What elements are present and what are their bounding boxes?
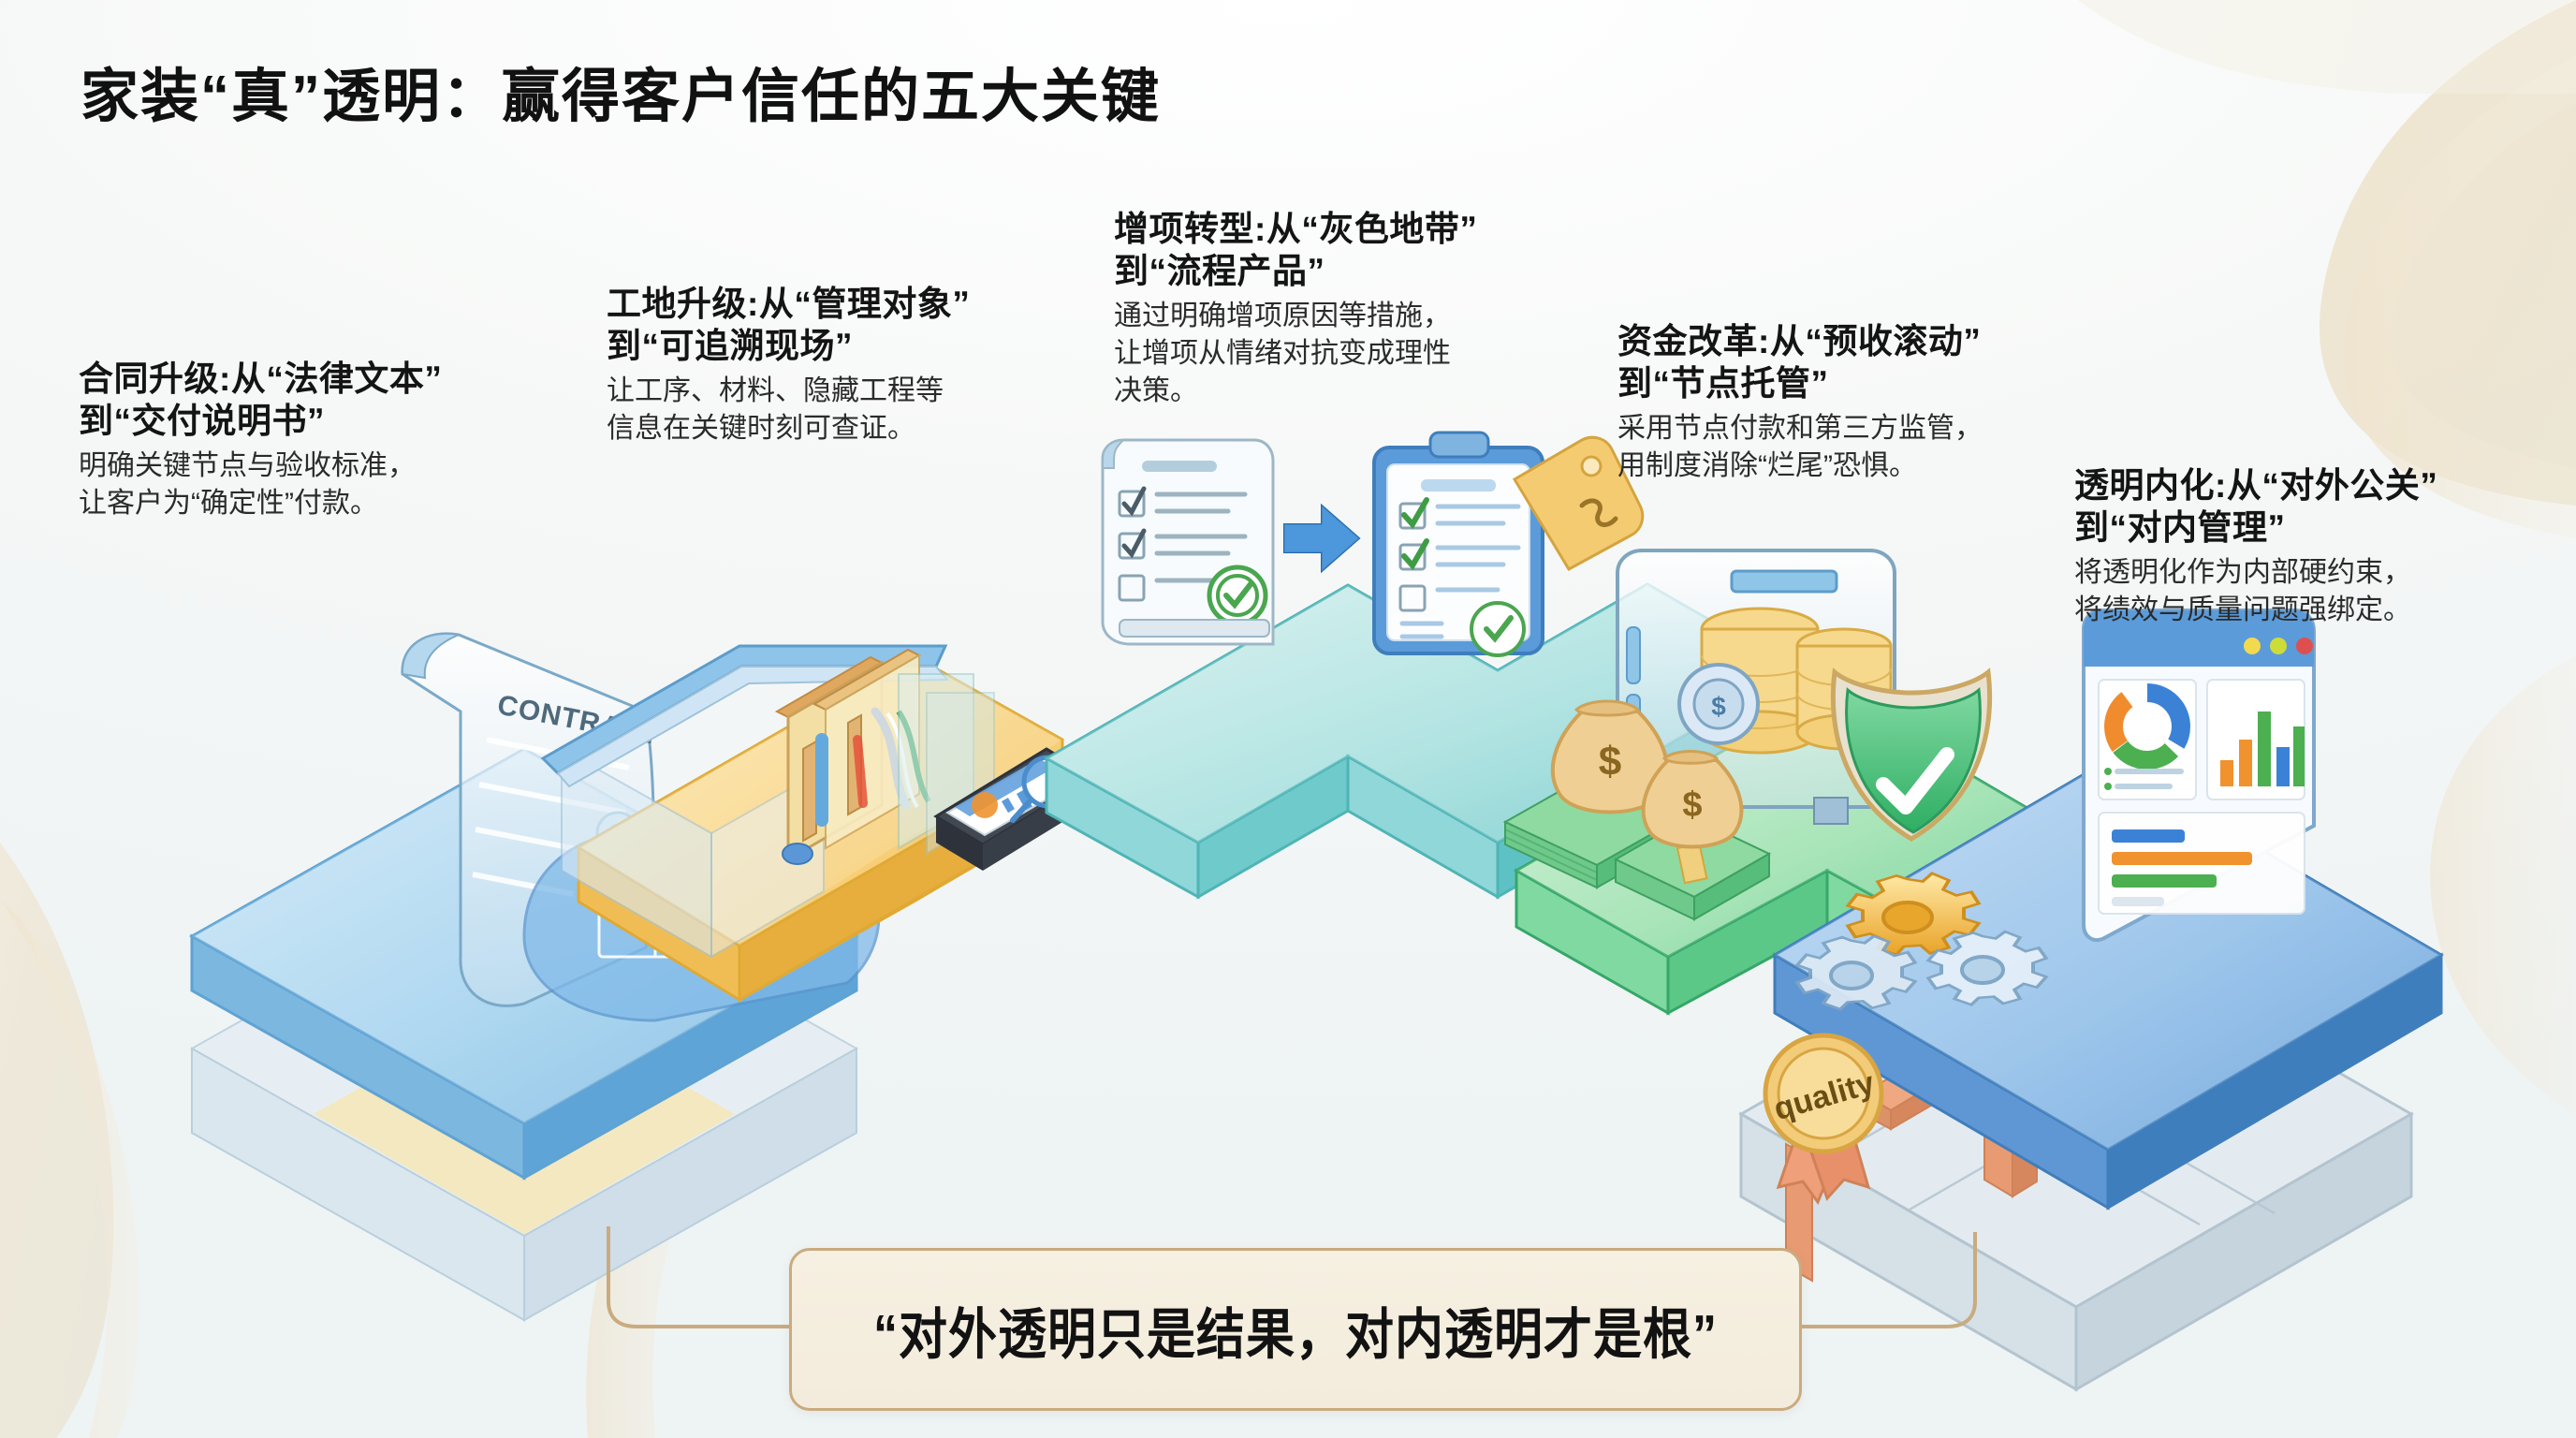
step-heading: 合同升级:从“法律文本” 到“交付说明书”: [79, 358, 584, 442]
step-card-fund-reform: 资金改革:从“预收滚动” 到“节点托管” 采用节点付款和第三方监管， 用制度消除…: [1617, 320, 2104, 485]
step-card-site-upgrade: 工地升级:从“管理对象” 到“可追溯现场” 让工序、材料、隐藏工程等 信息在关键…: [607, 283, 1103, 448]
key-quote-text: “对外透明只是结果，对内透明才是根”: [873, 1290, 1718, 1369]
key-quote-box: “对外透明只是结果，对内透明才是根”: [789, 1248, 1802, 1411]
step-card-addon-transform: 增项转型:从“灰色地带” 到“流程产品” 通过明确增项原因等措施， 让增项从情绪…: [1114, 208, 1601, 410]
step-heading: 透明内化:从“对外公关” 到“对内管理”: [2074, 464, 2561, 549]
step-heading: 工地升级:从“管理对象” 到“可追溯现场”: [607, 283, 1103, 367]
step-card-contract-upgrade: 合同升级:从“法律文本” 到“交付说明书” 明确关键节点与验收标准， 让客户为“…: [79, 358, 584, 522]
infographic-canvas: CONTRACT: [0, 0, 2576, 1438]
page-title: 家装“真”透明：赢得客户信任的五大关键: [80, 49, 1161, 133]
step-heading: 资金改革:从“预收滚动” 到“节点托管”: [1617, 320, 2104, 404]
step-card-transparency-internalize: 透明内化:从“对外公关” 到“对内管理” 将透明化作为内部硬约束， 将绩效与质量…: [2074, 464, 2561, 629]
step-heading: 增项转型:从“灰色地带” 到“流程产品”: [1114, 208, 1601, 292]
step-description: 明确关键节点与验收标准， 让客户为“确定性”付款。: [79, 448, 584, 522]
step-description: 采用节点付款和第三方监管， 用制度消除“烂尾”恐惧。: [1617, 410, 2104, 485]
step-description: 通过明确增项原因等措施， 让增项从情绪对抗变成理性 决策。: [1114, 298, 1601, 410]
step-description: 将透明化作为内部硬约束， 将绩效与质量问题强绑定。: [2074, 554, 2561, 629]
step-description: 让工序、材料、隐藏工程等 信息在关键时刻可查证。: [607, 373, 1103, 448]
